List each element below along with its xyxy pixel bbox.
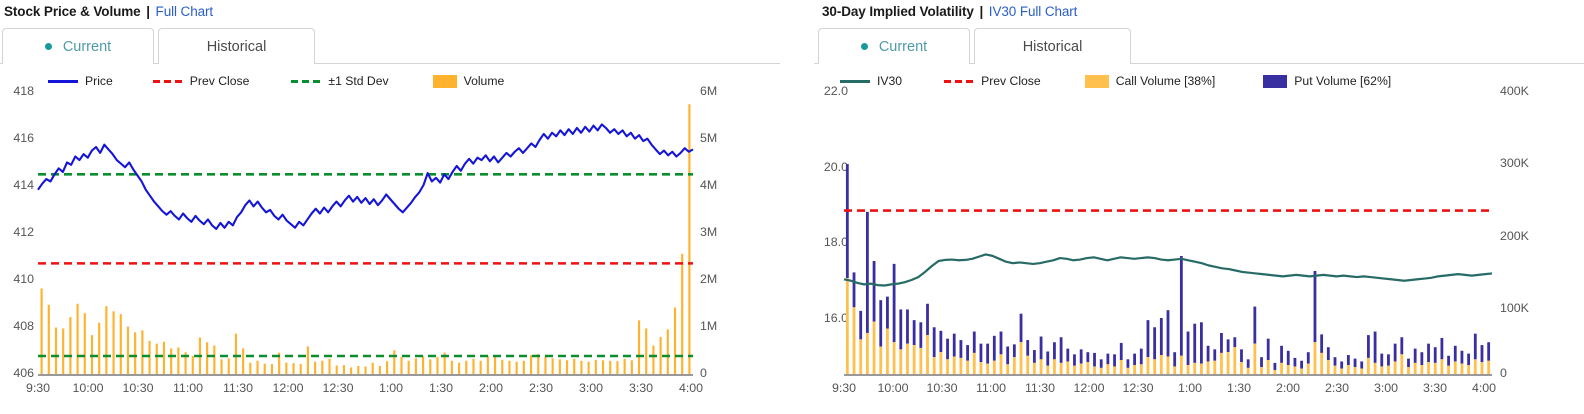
y2-tick-0-iv: 0	[1500, 366, 1507, 380]
dashed-swatch-icon	[291, 80, 321, 83]
legend-iv: IV30 Prev Close Call Volume [38%] Put Vo…	[840, 74, 1391, 88]
legend-label-std-dev: ±1 Std Dev	[328, 74, 388, 88]
tab-historical-label: Historical	[207, 39, 267, 55]
legend-label-call-volume: Call Volume [38%]	[1116, 74, 1216, 88]
tabs-stock: Current Historical	[0, 27, 780, 64]
y-tick-20: 20.0	[804, 160, 848, 174]
legend-label-volume: Volume	[464, 74, 505, 88]
legend-item-prev-close[interactable]: Prev Close	[153, 74, 250, 88]
y2-tick-4M: 4M	[700, 178, 717, 192]
status-dot-icon	[45, 43, 52, 50]
tab-current[interactable]: Current	[2, 28, 154, 64]
legend-label-iv30: IV30	[877, 74, 902, 88]
y2-tick-400K: 400K	[1500, 84, 1529, 98]
page-title-iv: 30-Day Implied Volatility | IV30 Full Ch…	[822, 4, 1077, 19]
dashed-swatch-icon	[944, 80, 974, 83]
x-axis-baseline	[38, 374, 693, 376]
x-tick-iv-6: 12:30	[1108, 381, 1168, 395]
y-tick-18: 18.0	[804, 235, 848, 249]
line-swatch-icon	[840, 80, 870, 83]
legend-label-price: Price	[85, 74, 113, 88]
tabs-iv: Current Historical	[814, 27, 1584, 64]
box-swatch-icon	[1263, 75, 1287, 88]
legend-item-prev-close-iv[interactable]: Prev Close	[944, 74, 1041, 88]
status-dot-icon	[861, 43, 868, 50]
y-tick-406: 406	[0, 366, 34, 380]
x-tick-13: 4:00	[661, 381, 721, 395]
page-title: Stock Price & Volume | Full Chart	[4, 4, 213, 19]
legend-item-volume[interactable]: Volume	[433, 74, 505, 88]
y-tick-412: 412	[0, 225, 34, 239]
y2-tick-1M: 1M	[700, 319, 717, 333]
tab-historical-label-iv: Historical	[1023, 39, 1083, 55]
y2-tick-0: 0	[700, 366, 707, 380]
y2-tick-200K: 200K	[1500, 229, 1529, 243]
panel-title-text: Stock Price & Volume	[4, 4, 141, 19]
implied-volatility-plot-area[interactable]	[844, 90, 1492, 375]
dashed-swatch-icon	[153, 80, 183, 83]
panel-title-text-iv: 30-Day Implied Volatility	[822, 4, 974, 19]
y-tick-408: 408	[0, 319, 34, 333]
legend-label-prev-close-iv: Prev Close	[981, 74, 1041, 88]
x-axis-baseline-iv	[844, 374, 1492, 376]
legend-item-put-volume[interactable]: Put Volume [62%]	[1263, 74, 1391, 88]
legend-item-std-dev[interactable]: ±1 Std Dev	[291, 74, 388, 88]
y-tick-410: 410	[0, 272, 34, 286]
dashboard-root: Stock Price & Volume | Full Chart Curren…	[0, 0, 1584, 414]
y2-tick-5M: 5M	[700, 131, 717, 145]
y2-tick-6M: 6M	[700, 84, 717, 98]
full-chart-link[interactable]: Full Chart	[156, 4, 214, 19]
legend-item-iv30[interactable]: IV30	[840, 74, 902, 88]
x-tick-iv-13: 4:00	[1454, 381, 1514, 395]
y2-tick-300K: 300K	[1500, 156, 1529, 170]
legend-item-price[interactable]: Price	[48, 74, 113, 88]
tab-historical-iv[interactable]: Historical	[974, 28, 1131, 64]
title-separator-iv: |	[977, 4, 985, 19]
box-swatch-icon	[1085, 75, 1109, 88]
tab-current-iv[interactable]: Current	[818, 28, 970, 64]
legend-label-prev-close: Prev Close	[190, 74, 250, 88]
tab-historical[interactable]: Historical	[158, 28, 315, 64]
y2-tick-100K: 100K	[1500, 301, 1529, 315]
y-tick-418: 418	[0, 84, 34, 98]
x-tick-6: 12:30	[308, 381, 368, 395]
box-swatch-icon	[433, 75, 457, 88]
line-swatch-icon	[48, 80, 78, 83]
legend-item-call-volume[interactable]: Call Volume [38%]	[1085, 74, 1216, 88]
iv30-full-chart-link[interactable]: IV30 Full Chart	[989, 4, 1078, 19]
y-tick-16: 16.0	[804, 311, 848, 325]
y-tick-414: 414	[0, 178, 34, 192]
legend-stock: Price Prev Close ±1 Std Dev Volume	[48, 74, 504, 88]
y2-tick-3M: 3M	[700, 225, 717, 239]
legend-label-put-volume: Put Volume [62%]	[1294, 74, 1391, 88]
title-separator: |	[144, 4, 152, 19]
tab-current-label: Current	[63, 39, 111, 55]
y-tick-416: 416	[0, 131, 34, 145]
tab-current-label-iv: Current	[879, 39, 927, 55]
stock-price-plot-area[interactable]	[38, 90, 693, 375]
panel-implied-volatility: 30-Day Implied Volatility | IV30 Full Ch…	[792, 0, 1584, 414]
y-tick-22: 22.0	[804, 84, 848, 98]
panel-stock-price-volume: Stock Price & Volume | Full Chart Curren…	[0, 0, 792, 414]
y2-tick-2M: 2M	[700, 272, 717, 286]
